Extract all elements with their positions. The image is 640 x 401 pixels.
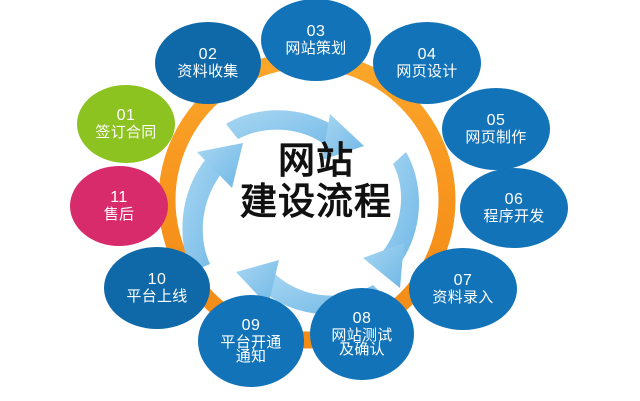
step-label: 网页制作 — [465, 130, 526, 145]
step-number: 02 — [199, 47, 218, 63]
step-bubble-02[interactable]: 02 资料收集 — [155, 22, 261, 104]
step-number: 04 — [418, 47, 437, 63]
step-bubble-06[interactable]: 06 程序开发 — [460, 168, 568, 248]
step-bubble-01[interactable]: 01 签订合同 — [77, 85, 175, 163]
step-number: 03 — [307, 24, 326, 40]
step-bubble-04[interactable]: 04 网页设计 — [373, 22, 481, 104]
center-title: 网站 建设流程 — [196, 140, 436, 223]
step-number: 09 — [242, 318, 261, 334]
step-label: 资料收集 — [177, 64, 238, 79]
step-bubble-11[interactable]: 11 售后 — [70, 166, 168, 246]
center-title-line1: 网站 — [196, 140, 436, 181]
step-bubble-08[interactable]: 08 网站测试 及确认 — [310, 288, 414, 380]
step-label: 售后 — [104, 207, 135, 222]
step-label: 平台上线 — [126, 289, 187, 304]
step-label: 网站策划 — [285, 41, 346, 56]
step-number: 06 — [505, 192, 524, 208]
step-label: 签订合同 — [95, 125, 156, 140]
step-label: 网页设计 — [396, 64, 457, 79]
step-bubble-05[interactable]: 05 网页制作 — [442, 88, 550, 170]
center-title-line2: 建设流程 — [196, 181, 436, 222]
step-label-line2: 通知 — [236, 349, 267, 364]
step-label: 资料录入 — [432, 290, 493, 305]
step-number: 11 — [110, 190, 128, 206]
step-label-line2: 及确认 — [339, 342, 385, 357]
step-bubble-07[interactable]: 07 资料录入 — [409, 248, 517, 330]
step-number: 07 — [454, 273, 473, 289]
step-label: 程序开发 — [483, 209, 544, 224]
step-number: 05 — [487, 113, 506, 129]
step-bubble-09[interactable]: 09 平台开通 通知 — [198, 295, 304, 387]
step-bubble-03[interactable]: 03 网站策划 — [261, 0, 371, 81]
step-bubble-10[interactable]: 10 平台上线 — [104, 247, 210, 329]
step-number: 10 — [148, 272, 167, 288]
process-diagram: 网站 建设流程 01 签订合同 02 资料收集 03 网站策划 04 网页设计 … — [0, 0, 640, 401]
step-number: 08 — [353, 311, 372, 327]
step-number: 01 — [117, 108, 136, 124]
